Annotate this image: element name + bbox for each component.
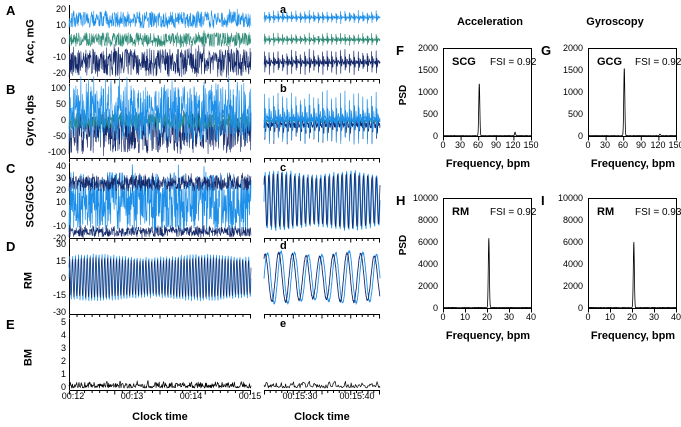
panel-D-ytick-2: 0 — [38, 274, 66, 283]
panel-I-xtick-3: 30 — [643, 313, 665, 322]
panel-H-xtick-4: 40 — [520, 313, 542, 322]
panel-H-xtick-2: 20 — [476, 313, 498, 322]
panel-C-ytick-5: -10 — [38, 222, 66, 231]
panel-A-ytick-4: -20 — [38, 69, 66, 78]
panel-I-fsi: FSI = 0.93 — [635, 207, 681, 218]
panel-H-signal-label: RM — [452, 206, 469, 218]
left-xtick-3: 00:15 — [228, 392, 272, 401]
panel-H-ytick-4: 2000 — [398, 282, 438, 291]
panel-C-ytick-1: 30 — [38, 174, 66, 183]
left-xtick-1: 00:13 — [110, 392, 154, 401]
panel-H-ytick-5: 0 — [398, 304, 438, 313]
panel-E-ylabel: BM — [24, 337, 35, 379]
panel-I-ytick-0: 10000 — [543, 194, 583, 203]
panel-I-xtick-4: 40 — [665, 313, 681, 322]
panel-I-xlabel: Frequency, bpm — [573, 330, 681, 342]
panel-E-ytick-3: 2 — [38, 357, 66, 366]
panel-I-ytick-2: 6000 — [543, 238, 583, 247]
column-title-acceleration: Acceleration — [425, 16, 555, 28]
panel-C-ytick-4: 0 — [38, 210, 66, 219]
panel-I-ytick-5: 0 — [543, 304, 583, 313]
panel-H-ytick-1: 8000 — [398, 216, 438, 225]
panel-letter-B: B — [6, 83, 15, 96]
panel-D-ylabel: RM — [24, 261, 35, 301]
panel-G-ytick-1: 1500 — [549, 66, 583, 75]
panel-C-ytick-0: 40 — [38, 162, 66, 171]
panel-I-xtick-2: 20 — [621, 313, 643, 322]
inset-xtick-0: 00:15:30 — [270, 392, 330, 401]
panel-letter-E: E — [6, 318, 15, 331]
column-title-gyroscopy: Gyroscopy — [555, 16, 675, 28]
panel-H-xtick-0: 0 — [432, 313, 454, 322]
panel-e-inset-plot — [264, 319, 380, 390]
panel-A-ylabel: Acc, mG — [26, 7, 37, 77]
panel-F-ytick-4: 0 — [404, 132, 438, 141]
panel-I-ytick-3: 4000 — [543, 260, 583, 269]
panel-H-xtick-3: 30 — [498, 313, 520, 322]
panel-C-ytick-2: 20 — [38, 186, 66, 195]
panel-H-fsi: FSI = 0.92 — [490, 207, 536, 218]
panel-E-ytick-4: 1 — [38, 370, 66, 379]
panel-I-ytick-4: 2000 — [543, 282, 583, 291]
left-xtick-0: 00:12 — [51, 392, 95, 401]
panel-B-ytick-1: 50 — [34, 100, 66, 109]
panel-B-ytick-2: 0 — [34, 116, 66, 125]
panel-B-ytick-3: -50 — [34, 132, 66, 141]
panel-G-ytick-3: 500 — [549, 110, 583, 119]
panel-C-ytick-3: 10 — [38, 198, 66, 207]
panel-H-xtick-1: 10 — [454, 313, 476, 322]
panel-F-ytick-0: 2000 — [404, 44, 438, 53]
inset-xaxis-title: Clock time — [262, 411, 382, 423]
panel-A-ytick-0: 20 — [38, 5, 66, 14]
panel-a-inset-plot — [264, 5, 380, 79]
panel-E-ytick-0: 5 — [38, 318, 66, 327]
panel-G-ytick-4: 0 — [549, 132, 583, 141]
panel-D-plot — [69, 241, 251, 314]
panel-C-plot — [69, 163, 251, 238]
panel-I-xtick-1: 10 — [599, 313, 621, 322]
panel-F-xlabel: Frequency, bpm — [428, 158, 548, 170]
panel-d-inset-plot — [264, 241, 380, 314]
inset-xtick-1: 00:15:40 — [327, 392, 387, 401]
panel-letter-A: A — [6, 4, 15, 17]
panel-I-ytick-1: 8000 — [543, 216, 583, 225]
panel-A-ytick-3: -10 — [38, 53, 66, 62]
panel-D-ytick-3: -15 — [38, 291, 66, 300]
panel-c-inset-plot — [264, 163, 380, 238]
panel-B-plot — [69, 84, 251, 158]
panel-B-ytick-4: -100 — [34, 148, 66, 157]
panel-F-fsi: FSI = 0.92 — [490, 57, 536, 68]
panel-b-inset-plot — [264, 84, 380, 158]
panel-H-ytick-3: 4000 — [398, 260, 438, 269]
figure-root: A Acc, mG 20 10 0 -10 -20 a B Gyro, dps … — [0, 0, 681, 427]
panel-A-ytick-1: 10 — [38, 21, 66, 30]
panel-D-ytick-0: 30 — [38, 240, 66, 249]
panel-F-ytick-3: 500 — [404, 110, 438, 119]
panel-G-ytick-2: 1000 — [549, 88, 583, 97]
panel-letter-F: F — [396, 44, 404, 57]
panel-H-ytick-2: 6000 — [398, 238, 438, 247]
panel-letter-D: D — [6, 240, 15, 253]
panel-D-ytick-4: -30 — [38, 308, 66, 317]
panel-E-ytick-1: 4 — [38, 331, 66, 340]
panel-F-ytick-1: 1500 — [404, 66, 438, 75]
panel-C-ylabel: SCG/GCG — [26, 161, 37, 243]
panel-A-plot — [69, 5, 251, 79]
panel-G-ytick-0: 2000 — [549, 44, 583, 53]
panel-G-fsi: FSI = 0.92 — [635, 57, 681, 68]
panel-E-ytick-2: 3 — [38, 344, 66, 353]
panel-G-signal-label: GCG — [597, 56, 622, 68]
panel-I-signal-label: RM — [597, 206, 614, 218]
left-xaxis-title: Clock time — [100, 411, 220, 423]
panel-F-signal-label: SCG — [452, 56, 476, 68]
panel-F-xtick-5: 150 — [519, 141, 543, 150]
panel-G-xlabel: Frequency, bpm — [573, 158, 681, 170]
panel-I-xtick-0: 0 — [577, 313, 599, 322]
panel-D-ytick-1: 15 — [38, 257, 66, 266]
panel-E-plot — [69, 319, 251, 390]
panel-B-ytick-0: 100 — [34, 84, 66, 93]
left-xtick-2: 00:14 — [169, 392, 213, 401]
panel-H-xlabel: Frequency, bpm — [428, 330, 548, 342]
panel-letter-C: C — [6, 162, 15, 175]
panel-F-ytick-2: 1000 — [404, 88, 438, 97]
panel-G-xtick-5: 150 — [664, 141, 681, 150]
panel-A-ytick-2: 0 — [38, 37, 66, 46]
panel-H-ytick-0: 10000 — [398, 194, 438, 203]
